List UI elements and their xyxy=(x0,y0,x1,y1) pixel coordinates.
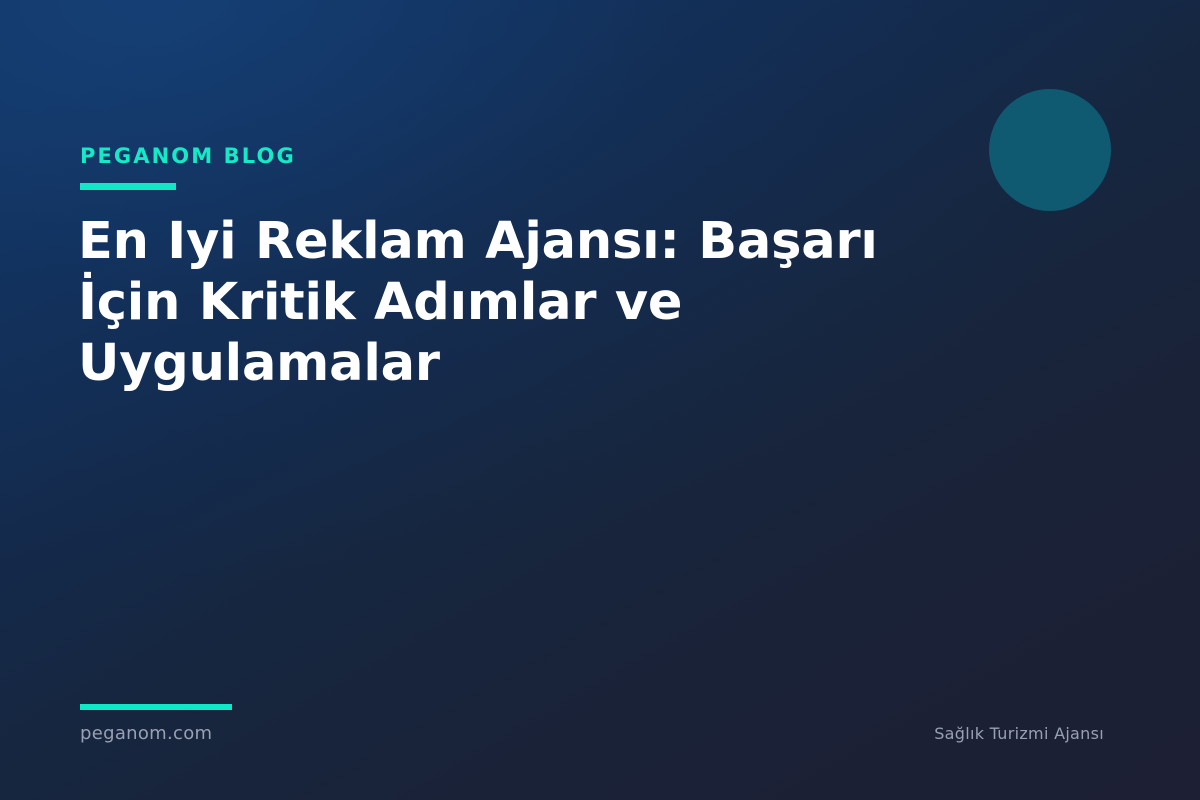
footer-site-url: peganom.com xyxy=(80,723,212,745)
headline-line-2: İçin Kritik Adımlar ve xyxy=(78,272,958,333)
headline-line-3: Uygulamalar xyxy=(78,333,958,394)
page-title: En Iyi Reklam Ajansı: Başarı İçin Kritik… xyxy=(78,211,958,395)
kicker-block: PEGANOM BLOG xyxy=(80,146,296,190)
footer-accent-rule xyxy=(80,704,232,710)
blog-cover-card: PEGANOM BLOG En Iyi Reklam Ajansı: Başar… xyxy=(0,0,1200,800)
footer-tagline: Sağlık Turizmi Ajansı xyxy=(934,724,1104,743)
teal-circle-decoration xyxy=(989,89,1111,211)
card-footer: peganom.com Sağlık Turizmi Ajansı xyxy=(0,690,1200,800)
headline-line-1: En Iyi Reklam Ajansı: Başarı xyxy=(78,211,958,272)
blog-kicker-label: PEGANOM BLOG xyxy=(80,146,296,167)
kicker-accent-rule xyxy=(80,183,176,190)
